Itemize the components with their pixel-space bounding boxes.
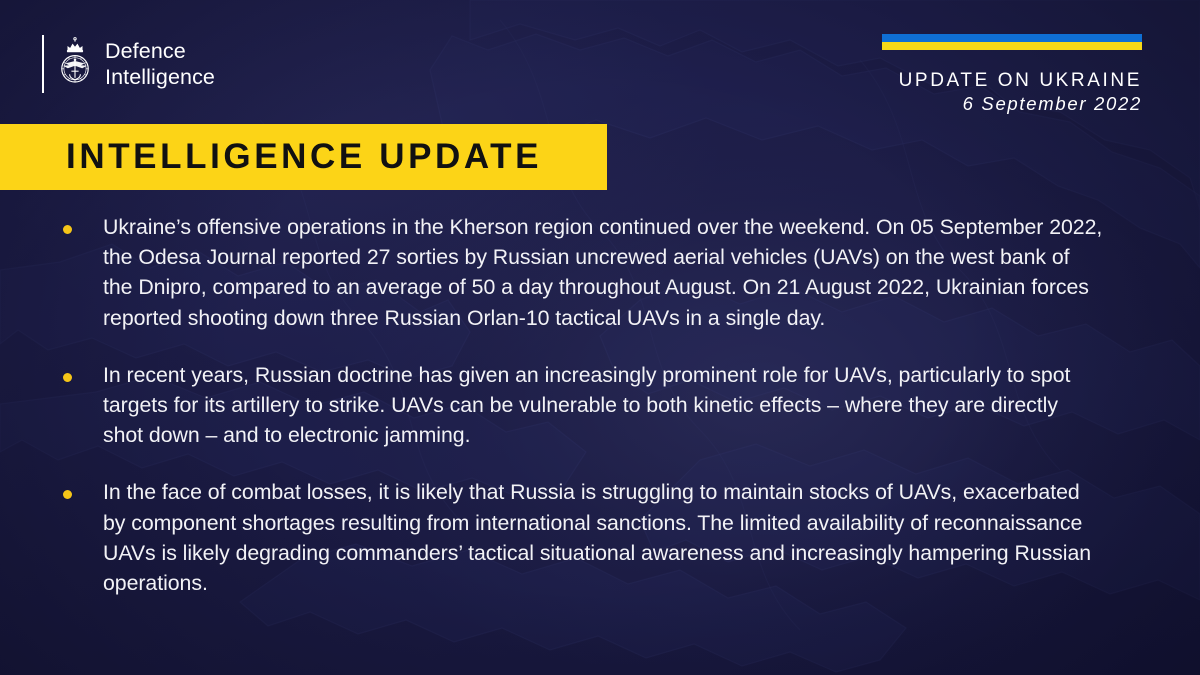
banner-title: INTELLIGENCE UPDATE [0,137,542,177]
bullet-dot-icon [63,490,72,499]
flag-blue-band [882,34,1142,42]
logo-divider-rule [42,35,44,93]
update-header-block: UPDATE ON UKRAINE 6 September 2022 [882,34,1142,116]
bullet-text: In the face of combat losses, it is like… [103,477,1103,598]
defence-intelligence-logo: Defence Intelligence [42,34,215,94]
list-item: In recent years, Russian doctrine has gi… [63,360,1123,451]
ukraine-flag-bar-icon [882,34,1142,50]
intelligence-update-banner: INTELLIGENCE UPDATE [0,124,607,190]
bullet-dot-icon [63,225,72,234]
logo-line-2: Intelligence [105,64,215,90]
bullet-text: In recent years, Russian doctrine has gi… [103,360,1103,451]
update-title: UPDATE ON UKRAINE [882,70,1142,92]
logo-line-1: Defence [105,38,215,64]
bullet-text: Ukraine’s offensive operations in the Kh… [103,212,1103,333]
list-item: Ukraine’s offensive operations in the Kh… [63,212,1123,333]
list-item: In the face of combat losses, it is like… [63,477,1123,598]
intelligence-update-poster: Defence Intelligence UPDATE ON UKRAINE 6… [0,0,1200,675]
bullet-list: Ukraine’s offensive operations in the Kh… [63,212,1123,598]
flag-yellow-band [882,42,1142,50]
bullet-dot-icon [63,373,72,382]
logo-wordmark: Defence Intelligence [105,38,215,90]
update-date: 6 September 2022 [882,92,1142,116]
defence-intelligence-crest-icon [57,37,93,91]
